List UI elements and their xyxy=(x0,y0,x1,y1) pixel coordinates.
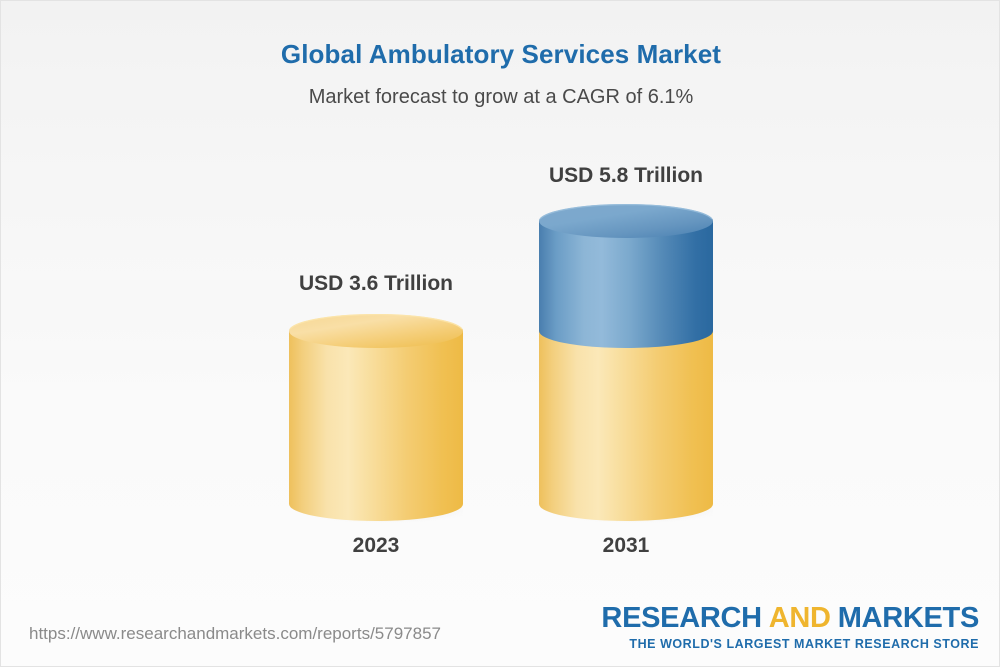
brand-logo-tagline: THE WORLD'S LARGEST MARKET RESEARCH STOR… xyxy=(601,636,979,652)
bar-cylinder-2031 xyxy=(539,204,713,514)
infographic-canvas: Global Ambulatory Services Market Market… xyxy=(0,0,1000,667)
logo-word-markets: MARKETS xyxy=(838,602,979,634)
bar-value-label-2023: USD 3.6 Trillion xyxy=(246,271,506,297)
brand-logo-wordmark: RESEARCHANDMARKETS xyxy=(601,602,979,634)
bar-cylinder-2023 xyxy=(289,314,463,514)
brand-logo[interactable]: RESEARCHANDMARKETS THE WORLD'S LARGEST M… xyxy=(601,602,979,652)
logo-word-research: RESEARCH xyxy=(601,602,761,634)
logo-word-and: AND xyxy=(769,602,831,634)
bar-category-label-2023: 2023 xyxy=(246,533,506,559)
report-url[interactable]: https://www.researchandmarkets.com/repor… xyxy=(29,623,441,645)
bar-category-label-2031: 2031 xyxy=(496,533,756,559)
chart-plot-area: USD 3.6 Trillion xyxy=(1,1,1000,667)
bar-value-label-2031: USD 5.8 Trillion xyxy=(496,163,756,189)
